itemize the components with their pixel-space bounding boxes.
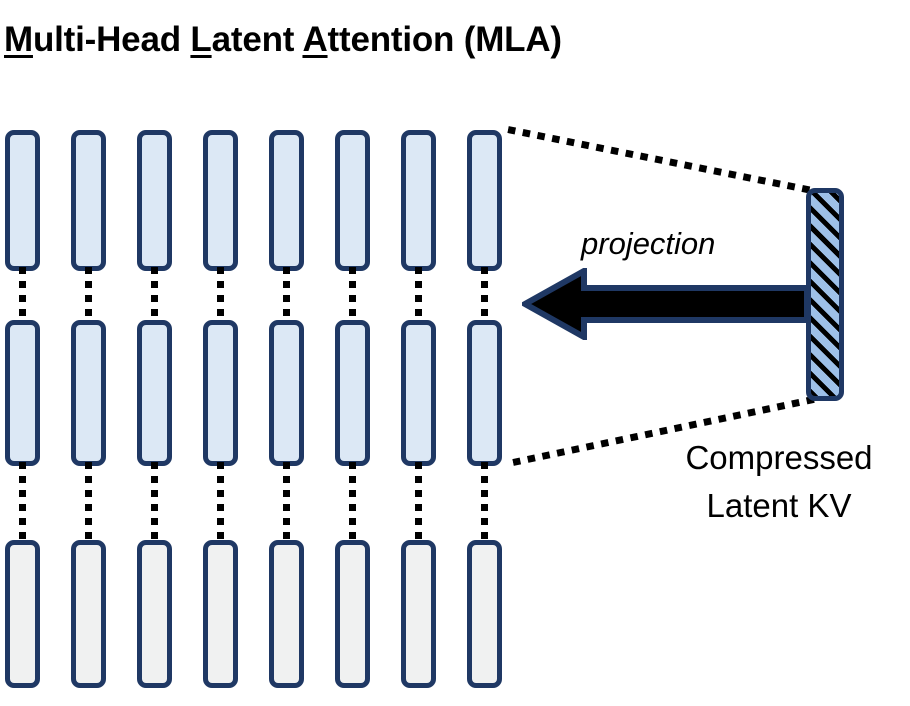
page-title: Multi-Head Latent Attention (MLA) xyxy=(4,18,562,62)
head-connector-dots-r2-c6 xyxy=(349,462,356,544)
compressed-latent-kv-box xyxy=(806,188,844,401)
title-part-0: M xyxy=(4,20,33,59)
attention-head-box-r3-c4 xyxy=(203,540,238,688)
head-connector-dots-r1-c6 xyxy=(349,267,356,324)
attention-head-box-r1-c5 xyxy=(269,130,304,271)
head-connector-dots-r1-c4 xyxy=(217,267,224,324)
attention-head-box-r2-c6 xyxy=(335,320,370,466)
attention-head-box-r2-c8 xyxy=(467,320,502,466)
attention-head-box-r1-c7 xyxy=(401,130,436,271)
attention-head-box-r2-c7 xyxy=(401,320,436,466)
title-part-3: atent xyxy=(212,20,303,59)
head-connector-dots-r2-c1 xyxy=(19,462,26,544)
title-part-1: ulti-Head xyxy=(33,20,190,59)
attention-head-box-r2-c1 xyxy=(5,320,40,466)
attention-head-box-r1-c6 xyxy=(335,130,370,271)
attention-head-box-r2-c2 xyxy=(71,320,106,466)
projection-label: projection xyxy=(581,226,715,262)
attention-head-box-r3-c3 xyxy=(137,540,172,688)
caption-line-2: Latent KV xyxy=(648,482,910,530)
attention-head-box-r1-c4 xyxy=(203,130,238,271)
attention-head-box-r3-c7 xyxy=(401,540,436,688)
head-connector-dots-r1-c3 xyxy=(151,267,158,324)
attention-head-box-r3-c5 xyxy=(269,540,304,688)
head-connector-dots-r1-c7 xyxy=(415,267,422,324)
mla-diagram-canvas: Multi-Head Latent Attention (MLA) projec… xyxy=(0,0,910,706)
head-connector-dots-r2-c3 xyxy=(151,462,158,544)
head-connector-dots-r1-c2 xyxy=(85,267,92,324)
compressed-latent-kv-caption: Compressed Latent KV xyxy=(648,434,910,530)
title-part-5: ttention (MLA) xyxy=(328,20,562,59)
head-connector-dots-r2-c2 xyxy=(85,462,92,544)
attention-head-box-r1-c3 xyxy=(137,130,172,271)
attention-head-box-r3-c2 xyxy=(71,540,106,688)
title-part-4: A xyxy=(302,20,327,59)
attention-head-box-r2-c4 xyxy=(203,320,238,466)
guide-line-top xyxy=(507,126,812,194)
head-connector-dots-r2-c8 xyxy=(481,462,488,544)
head-connector-dots-r2-c7 xyxy=(415,462,422,544)
attention-head-box-r1-c8 xyxy=(467,130,502,271)
head-connector-dots-r2-c5 xyxy=(283,462,290,544)
attention-head-box-r1-c1 xyxy=(5,130,40,271)
head-connector-dots-r1-c5 xyxy=(283,267,290,324)
caption-line-1: Compressed xyxy=(648,434,910,482)
head-connector-dots-r1-c1 xyxy=(19,267,26,324)
title-part-2: L xyxy=(190,20,211,59)
attention-head-box-r2-c5 xyxy=(269,320,304,466)
projection-arrow xyxy=(522,268,810,340)
head-connector-dots-r1-c8 xyxy=(481,267,488,324)
attention-head-box-r3-c1 xyxy=(5,540,40,688)
attention-head-box-r1-c2 xyxy=(71,130,106,271)
head-connector-dots-r2-c4 xyxy=(217,462,224,544)
attention-head-box-r3-c8 xyxy=(467,540,502,688)
attention-head-box-r3-c6 xyxy=(335,540,370,688)
attention-head-box-r2-c3 xyxy=(137,320,172,466)
